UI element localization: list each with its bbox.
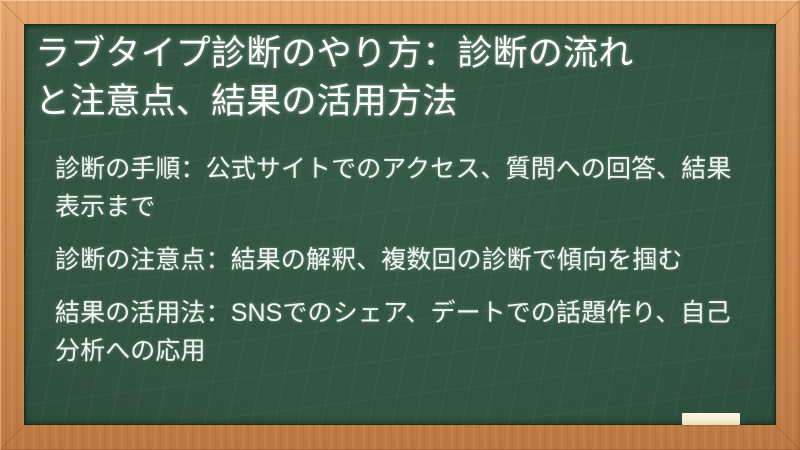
- slide-content: ラブタイプ診断のやり方：診断の流れ と注意点、結果の活用方法 診断の手順：公式サ…: [24, 24, 776, 425]
- chalkboard-surface: ラブタイプ診断のやり方：診断の流れ と注意点、結果の活用方法 診断の手順：公式サ…: [24, 24, 776, 425]
- chalk-stick: [682, 413, 740, 425]
- bullet-list: 診断の手順：公式サイトでのアクセス、質問への回答、結果表示まで 診断の注意点：結…: [55, 150, 755, 370]
- chalkboard-slide: ラブタイプ診断のやり方：診断の流れ と注意点、結果の活用方法 診断の手順：公式サ…: [0, 0, 800, 450]
- list-item: 診断の注意点：結果の解釈、複数回の診断で傾向を掴む: [55, 241, 755, 279]
- slide-title: ラブタイプ診断のやり方：診断の流れ と注意点、結果の活用方法: [35, 30, 757, 126]
- list-item: 診断の手順：公式サイトでのアクセス、質問への回答、結果表示まで: [55, 150, 755, 226]
- list-item: 結果の活用法：SNSでのシェア、デートでの話題作り、自己分析への応用: [55, 294, 755, 370]
